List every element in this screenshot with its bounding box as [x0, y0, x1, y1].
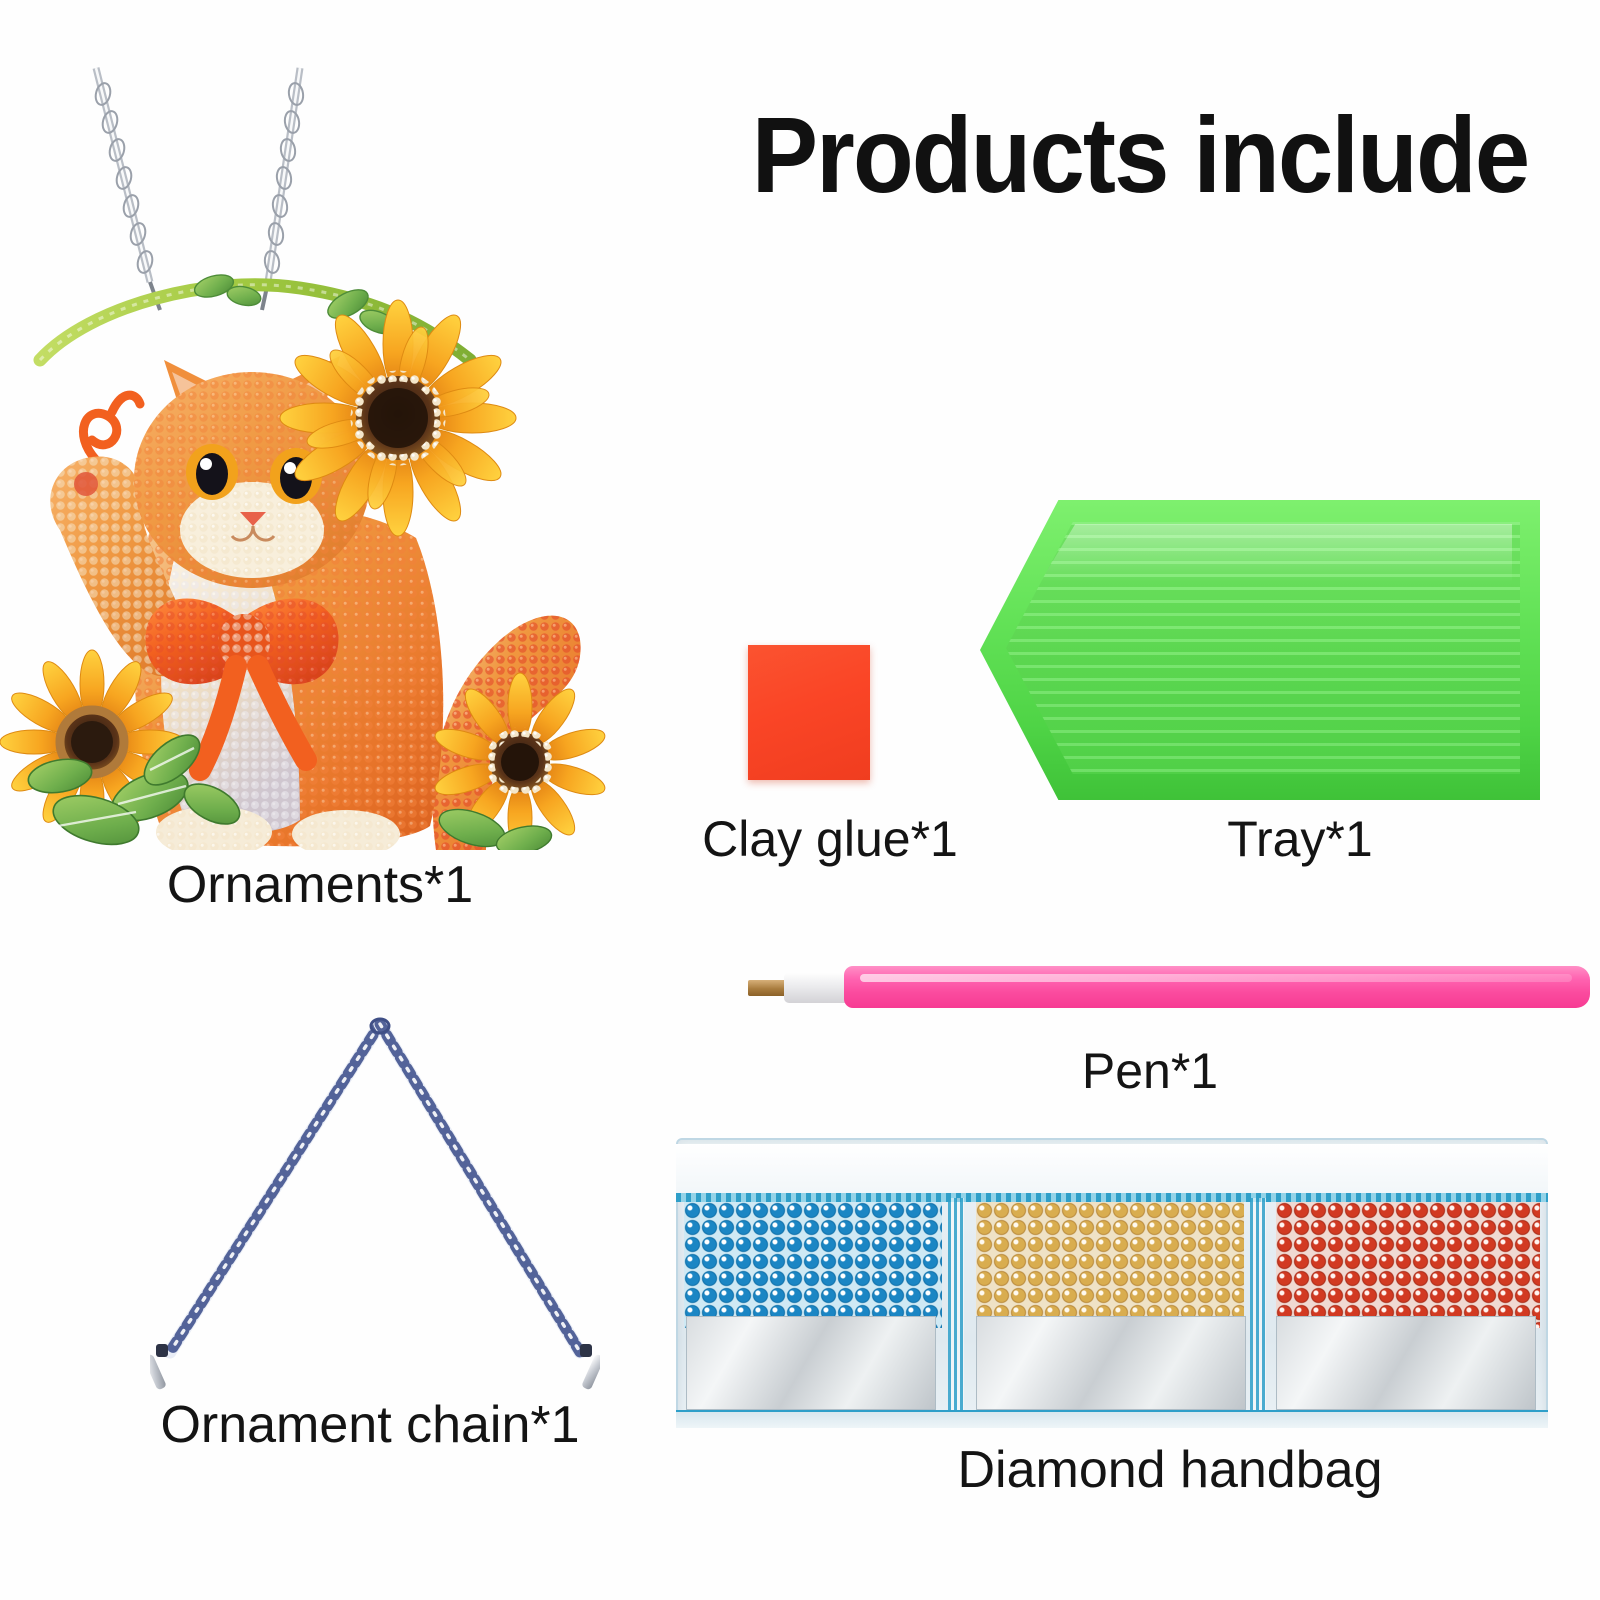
caption-ornament-chain: Ornament chain*1: [20, 1395, 720, 1455]
caption-tray: Tray*1: [1080, 810, 1520, 868]
blue-rhinestones: [684, 1202, 942, 1328]
ornament-illustration: [0, 60, 640, 850]
chain-right-leg: [380, 1024, 580, 1352]
pen-ferrule: [784, 972, 850, 1003]
diamond-handbag-illustration: [676, 1138, 1548, 1428]
clay-glue-swatch: [748, 645, 870, 780]
pen-body: [844, 966, 1590, 1008]
gem-compartment-red: [1276, 1202, 1540, 1328]
red-rhinestones: [1276, 1202, 1540, 1328]
gem-compartment-gold: [976, 1202, 1244, 1328]
tray-gloss-highlight: [1010, 524, 1512, 582]
caption-ornaments: Ornaments*1: [10, 855, 630, 915]
foil-pack-1: [686, 1316, 936, 1410]
caption-pen: Pen*1: [940, 1042, 1360, 1100]
hanging-chain-left: [94, 68, 160, 310]
pouch-zipper: [676, 1193, 1548, 1202]
caption-clay-glue: Clay glue*1: [620, 810, 1040, 868]
chain-left-leg: [170, 1024, 380, 1352]
foil-pack-2: [976, 1316, 1246, 1410]
gem-compartment-blue: [684, 1202, 942, 1328]
pouch-top-seal: [676, 1144, 1548, 1199]
pen-illustration: [748, 962, 1590, 1014]
tray-illustration: [980, 500, 1540, 800]
hanging-chain-right: [262, 68, 305, 310]
ribbon-curl: [83, 395, 140, 460]
gold-rhinestones: [976, 1202, 1244, 1328]
product-contents-infographic: Products include: [0, 0, 1600, 1600]
chain-end-pin-right: [580, 1344, 600, 1390]
foil-pack-3: [1276, 1316, 1536, 1410]
pen-highlight: [860, 974, 1572, 982]
page-title: Products include: [735, 98, 1545, 211]
pouch-divider-2: [1250, 1198, 1266, 1420]
chain-end-pin-left: [150, 1344, 168, 1390]
pouch-divider-1: [948, 1198, 964, 1420]
ornament-chain-illustration: [150, 1000, 600, 1390]
pouch-bottom-seal: [676, 1410, 1548, 1428]
caption-diamond-handbag: Diamond handbag: [820, 1440, 1520, 1500]
